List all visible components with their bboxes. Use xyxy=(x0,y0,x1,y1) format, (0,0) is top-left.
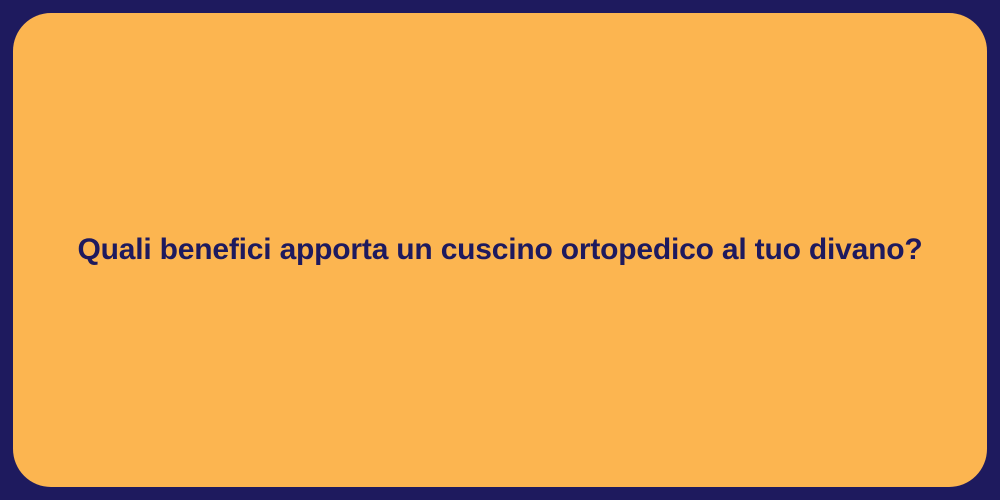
outer-frame: Quali benefici apporta un cuscino ortope… xyxy=(0,0,1000,500)
content-card: Quali benefici apporta un cuscino ortope… xyxy=(13,13,987,487)
page-title: Quali benefici apporta un cuscino ortope… xyxy=(78,232,923,268)
